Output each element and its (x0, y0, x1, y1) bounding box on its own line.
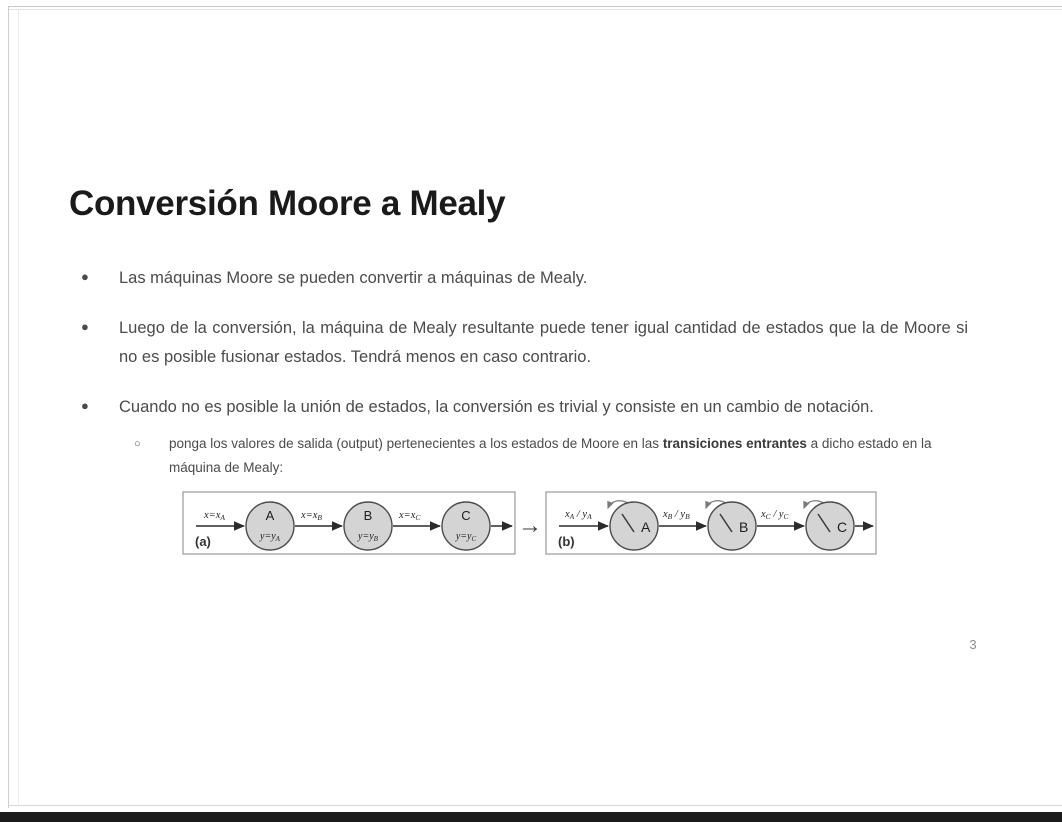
bullet-item-1: ● Las máquinas Moore se pueden convertir… (78, 264, 968, 293)
sub-text-emphasis: transiciones entrantes (663, 436, 807, 451)
panel-a-state-A: A (266, 508, 275, 523)
panel-a-state-C: C (461, 508, 470, 523)
page-title: Conversión Moore a Mealy (69, 184, 505, 224)
sub-bullet-text: ponga los valores de salida (output) per… (169, 432, 966, 480)
figure-panel-b: (b) xA / yA A xB / yB (546, 492, 876, 554)
panel-a-label: (a) (195, 534, 211, 549)
panel-b-state-A: A (641, 519, 651, 535)
panel-a-state-B: B (364, 508, 373, 523)
figure-separator-arrow-icon: → (518, 512, 542, 539)
panel-b-state-C: C (837, 519, 847, 535)
bullet-list: ● Las máquinas Moore se pueden convertir… (78, 264, 968, 443)
frame-bottom-bar (0, 812, 1062, 822)
bullet-dot-icon: ● (78, 264, 119, 290)
bullet-text-3: Cuando no es posible la unión de estados… (119, 393, 968, 422)
bullet-dot-icon: ● (78, 393, 119, 419)
bullet-circle-icon: ○ (134, 432, 169, 456)
slide-content: Conversión Moore a Mealy ● Las máquinas … (0, 0, 1062, 812)
panel-b-label: (b) (558, 534, 575, 549)
sub-bullet-list: ○ ponga los valores de salida (output) p… (134, 432, 966, 480)
bullet-dot-icon: ● (78, 314, 119, 340)
figure-panel-a: (a) x=xA A y=yA x=xB B y=yB (183, 492, 515, 554)
slide-frame: Conversión Moore a Mealy ● Las máquinas … (0, 0, 1062, 822)
sub-text-before: ponga los valores de salida (output) per… (169, 436, 663, 451)
sub-bullet-item: ○ ponga los valores de salida (output) p… (134, 432, 966, 480)
panel-b-state-B: B (739, 519, 748, 535)
state-machine-figure: (a) x=xA A y=yA x=xB B y=yB (182, 488, 878, 558)
bullet-item-3: ● Cuando no es posible la unión de estad… (78, 393, 968, 422)
page-number: 3 (958, 637, 988, 652)
bullet-text-2: Luego de la conversión, la máquina de Me… (119, 314, 968, 372)
bullet-text-1: Las máquinas Moore se pueden convertir a… (119, 264, 968, 293)
bullet-item-2: ● Luego de la conversión, la máquina de … (78, 314, 968, 372)
